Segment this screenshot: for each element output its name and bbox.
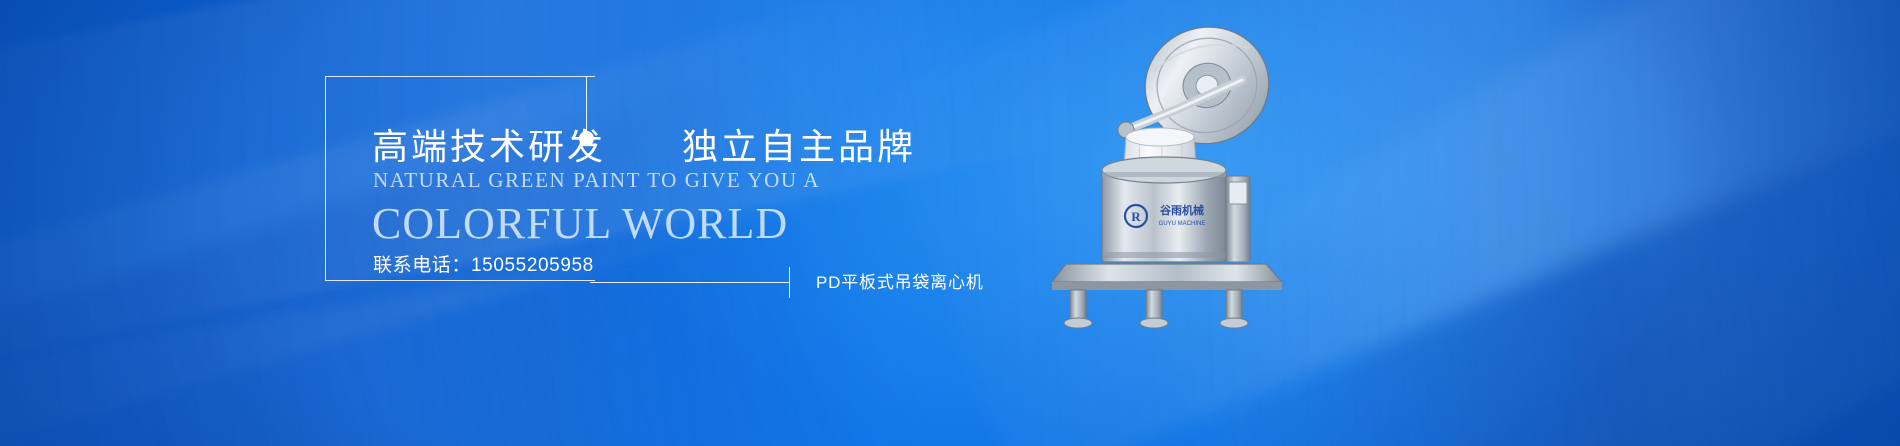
machine-legs xyxy=(1064,290,1248,328)
centrifuge-machine-image: R 谷雨机械 GUYU MACHINE xyxy=(1030,20,1330,340)
banner-headline: 高端技术研发独立自主品牌 xyxy=(372,118,916,170)
banner-subtitle-english: NATURAL GREEN PAINT TO GIVE YOU A xyxy=(373,168,820,193)
contact-phone-text: 联系电话：15055205958 xyxy=(373,250,594,277)
machine-drum: R 谷雨机械 GUYU MACHINE xyxy=(1102,157,1226,262)
machine-base-plate xyxy=(1052,264,1282,290)
vignette-overlay xyxy=(0,0,1900,446)
banner-tagline-english: COLORFUL WORLD xyxy=(372,198,788,249)
svg-text:谷雨机械: 谷雨机械 xyxy=(1160,203,1204,217)
headline-left-text: 高端技术研发 xyxy=(372,126,606,167)
product-caption-text: PD平板式吊袋离心机 xyxy=(816,268,984,293)
svg-text:GUYU MACHINE: GUYU MACHINE xyxy=(1159,221,1206,227)
caption-connector-line xyxy=(590,282,790,283)
control-panel xyxy=(1229,182,1247,204)
caption-connector-tick xyxy=(789,267,790,298)
centrifuge-illustration: R 谷雨机械 GUYU MACHINE xyxy=(1030,20,1330,340)
promo-banner: 高端技术研发独立自主品牌 NATURAL GREEN PAINT TO GIVE… xyxy=(0,0,1900,446)
svg-text:R: R xyxy=(1131,209,1141,224)
headline-right-text: 独立自主品牌 xyxy=(682,126,916,167)
